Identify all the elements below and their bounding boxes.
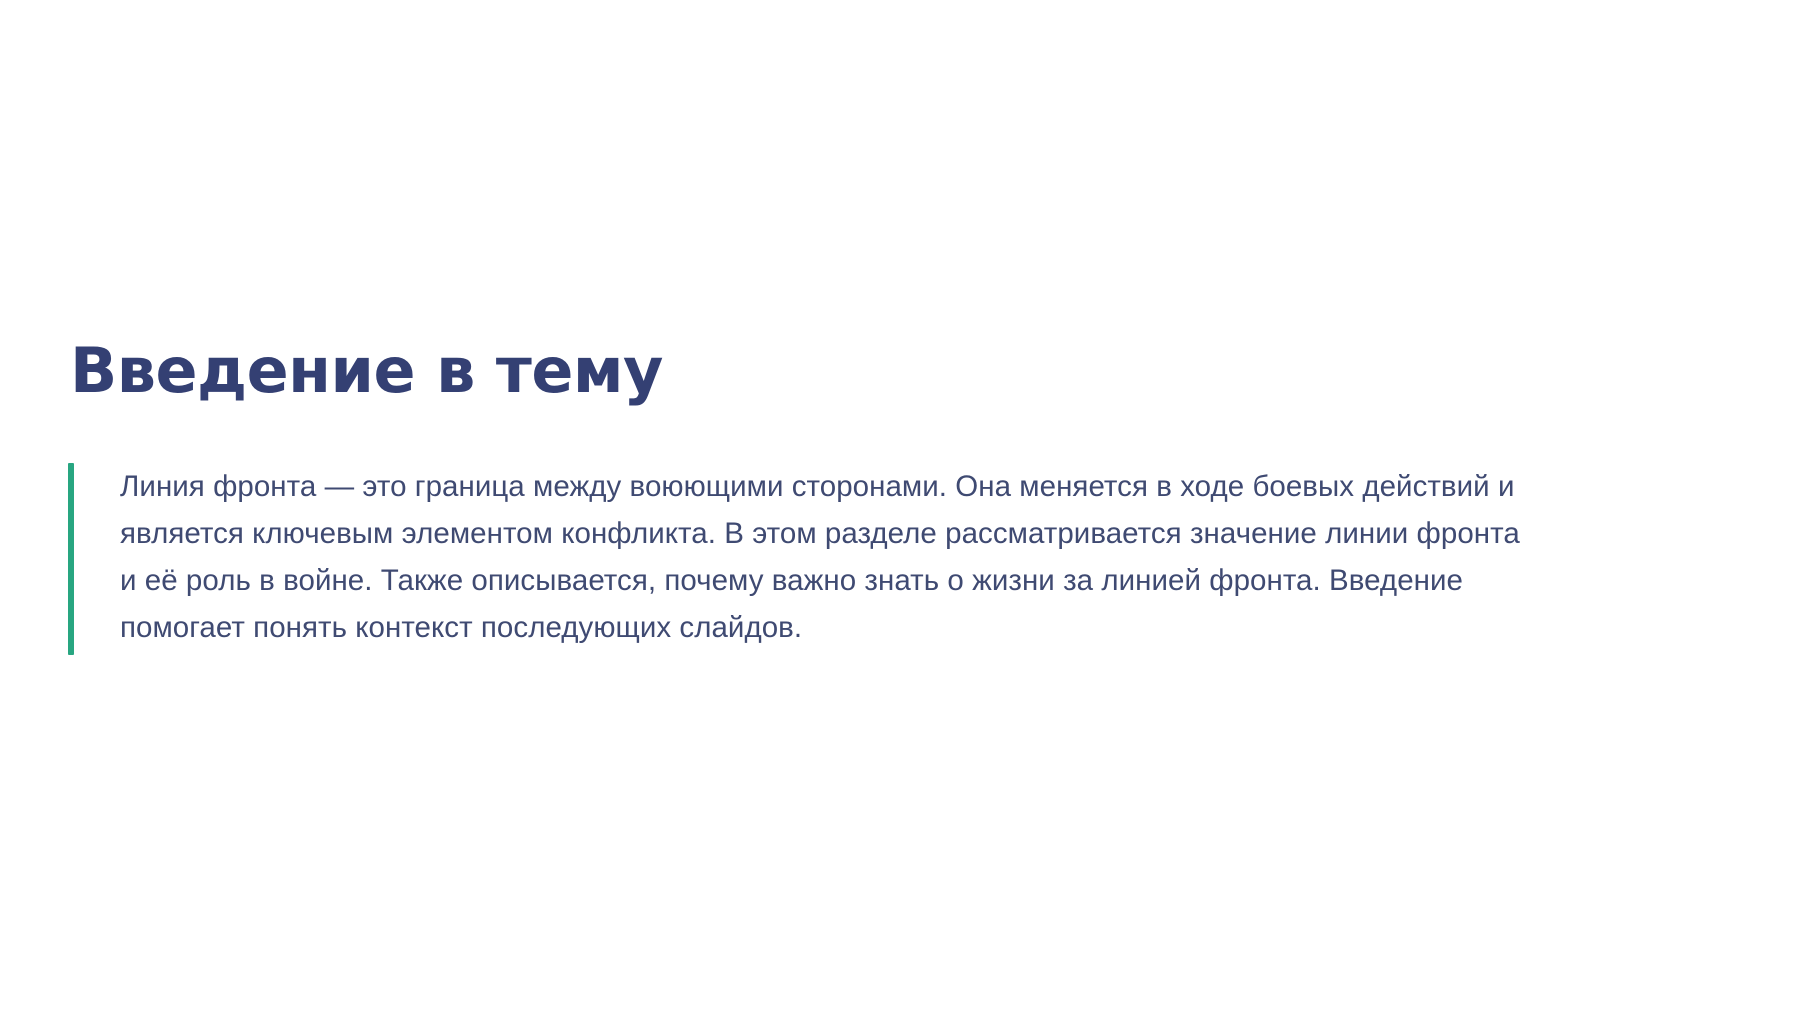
- page-title: Введение в тему: [70, 338, 663, 403]
- body-paragraph: Линия фронта — это граница между воюющим…: [74, 463, 1528, 655]
- presentation-slide: Введение в тему Линия фронта — это грани…: [0, 0, 1800, 1013]
- body-text-block: Линия фронта — это граница между воюющим…: [68, 463, 1528, 655]
